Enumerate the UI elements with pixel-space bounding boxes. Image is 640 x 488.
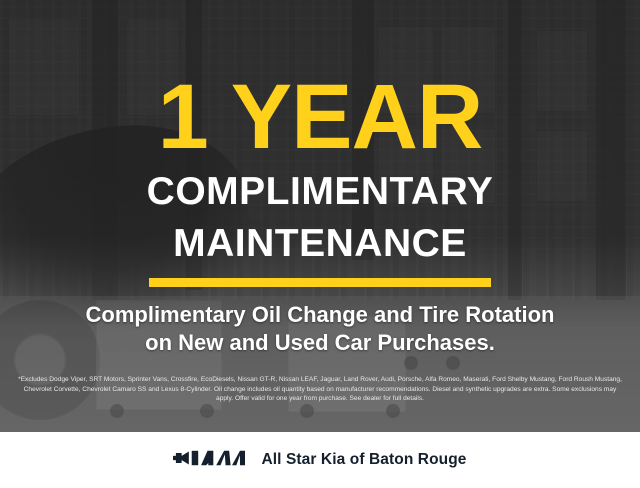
promo-banner: 1 YEAR COMPLIMENTARY MAINTENANCE Complim… [0, 0, 640, 488]
headline-complimentary: COMPLIMENTARY [147, 171, 494, 212]
banner-content: 1 YEAR COMPLIMENTARY MAINTENANCE Complim… [0, 0, 640, 432]
offer-description: Complimentary Oil Change and Tire Rotati… [86, 301, 555, 357]
offer-line-1: Complimentary Oil Change and Tire Rotati… [86, 301, 555, 329]
dealer-name: All Star Kia of Baton Rouge [261, 451, 466, 469]
kia-logo-icon [173, 447, 245, 474]
headline-maintenance: MAINTENANCE [173, 223, 467, 264]
headline-year: 1 YEAR [158, 74, 483, 161]
banner-footer: All Star Kia of Baton Rouge [0, 432, 640, 488]
disclaimer-text: *Excludes Dodge Viper, SRT Motors, Sprin… [16, 375, 624, 404]
offer-line-2: on New and Used Car Purchases. [86, 329, 555, 357]
yellow-divider [149, 278, 491, 287]
